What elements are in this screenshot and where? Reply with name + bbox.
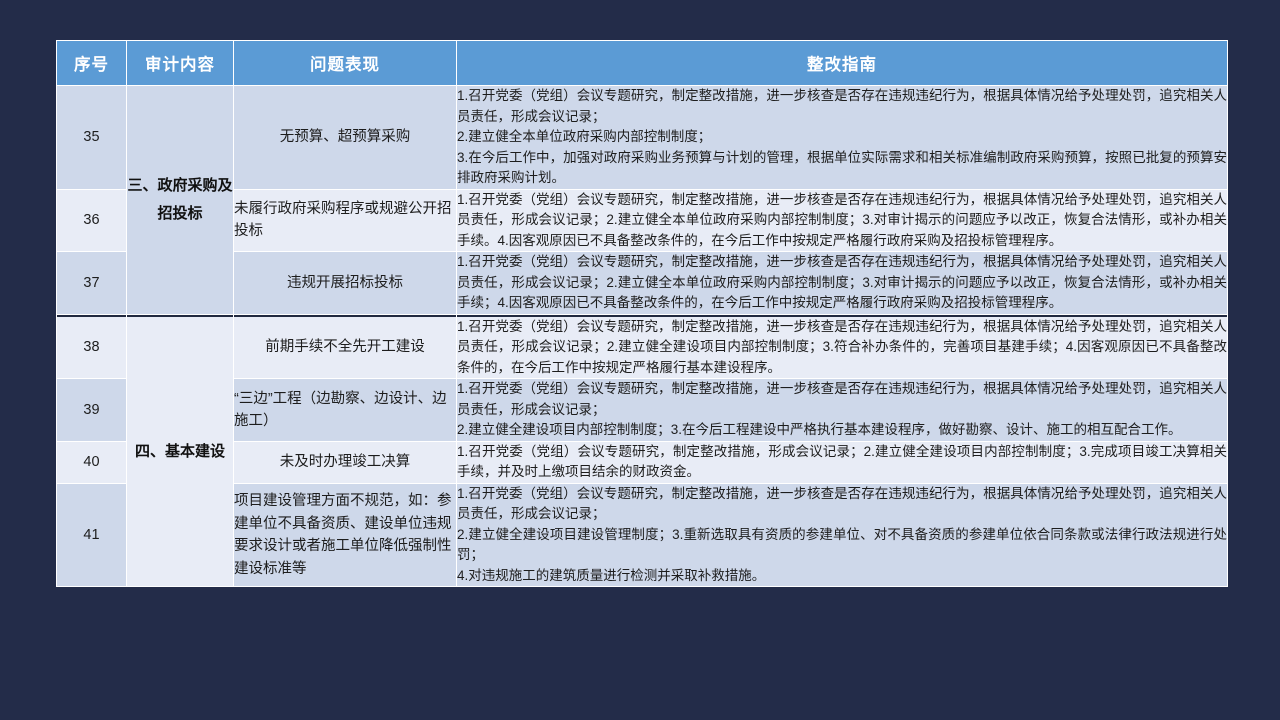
cell-guide: 1.召开党委（党组）会议专题研究，制定整改措施，进一步核查是否存在违规违纪行为，… — [457, 190, 1227, 252]
guide-line: 1.召开党委（党组）会议专题研究，制定整改措施，进一步核查是否存在违规违纪行为，… — [457, 86, 1227, 127]
cell-seq: 37 — [57, 252, 126, 314]
cell-problem: 前期手续不全先开工建设 — [234, 315, 456, 379]
cell-seq: 39 — [57, 379, 126, 441]
cell-problem: 无预算、超预算采购 — [234, 86, 456, 189]
cell-problem: 违规开展招标投标 — [234, 252, 456, 314]
cell-problem: 未履行政府采购程序或规避公开招投标 — [234, 190, 456, 252]
guide-line: 1.召开党委（党组）会议专题研究，制定整改措施，进一步核查是否存在违规违纪行为，… — [457, 190, 1227, 252]
cell-guide: 1.召开党委（党组）会议专题研究，制定整改措施，进一步核查是否存在违规违纪行为，… — [457, 315, 1227, 379]
guide-line: 1.召开党委（党组）会议专题研究，制定整改措施，进一步核查是否存在违规违纪行为，… — [457, 379, 1227, 420]
table-header: 序号 审计内容 问题表现 整改指南 — [57, 41, 1227, 85]
guide-line: 2.建立健全本单位政府采购内部控制制度； — [457, 127, 1227, 148]
cell-guide: 1.召开党委（党组）会议专题研究，制定整改措施，形成会议记录；2.建立健全建设项… — [457, 442, 1227, 483]
guide-line: 3.在今后工作中，加强对政府采购业务预算与计划的管理，根据单位实际需求和相关标准… — [457, 148, 1227, 189]
cell-seq: 36 — [57, 190, 126, 252]
cell-guide: 1.召开党委（党组）会议专题研究，制定整改措施，进一步核查是否存在违规违纪行为，… — [457, 484, 1227, 587]
guide-line: 2.建立健全建设项目建设管理制度；3.重新选取具有资质的参建单位、对不具备资质的… — [457, 525, 1227, 566]
cell-guide: 1.召开党委（党组）会议专题研究，制定整改措施，进一步核查是否存在违规违纪行为，… — [457, 379, 1227, 441]
cell-problem: 未及时办理竣工决算 — [234, 442, 456, 483]
column-header-problem: 问题表现 — [234, 41, 456, 85]
guide-line: 1.召开党委（党组）会议专题研究，制定整改措施，进一步核查是否存在违规违纪行为，… — [457, 252, 1227, 314]
cell-topic-section-3: 三、政府采购及招投标 — [127, 86, 233, 314]
cell-guide: 1.召开党委（党组）会议专题研究，制定整改措施，进一步核查是否存在违规违纪行为，… — [457, 252, 1227, 314]
guide-line: 1.召开党委（党组）会议专题研究，制定整改措施，进一步核查是否存在违规违纪行为，… — [457, 317, 1227, 379]
cell-seq: 35 — [57, 86, 126, 189]
cell-problem: “三边”工程（边勘察、边设计、边施工） — [234, 379, 456, 441]
guide-line: 1.召开党委（党组）会议专题研究，制定整改措施，形成会议记录；2.建立健全建设项… — [457, 442, 1227, 483]
guide-line: 2.建立健全建设项目内部控制制度；3.在今后工程建设中严格执行基本建设程序，做好… — [457, 420, 1227, 441]
column-header-seq: 序号 — [57, 41, 126, 85]
column-header-topic: 审计内容 — [127, 41, 233, 85]
column-header-guide: 整改指南 — [457, 41, 1227, 85]
audit-remediation-table: 序号 审计内容 问题表现 整改指南 35 三、政府采购及招投标 无预算、超预算采… — [56, 40, 1228, 587]
table-body: 35 三、政府采购及招投标 无预算、超预算采购 1.召开党委（党组）会议专题研究… — [57, 86, 1227, 586]
cell-topic-section-4: 四、基本建设 — [127, 315, 233, 587]
cell-seq: 40 — [57, 442, 126, 483]
cell-problem: 项目建设管理方面不规范，如：参建单位不具备资质、建设单位违规要求设计或者施工单位… — [234, 484, 456, 587]
cell-seq: 41 — [57, 484, 126, 587]
table-header-row: 序号 审计内容 问题表现 整改指南 — [57, 41, 1227, 85]
guide-line: 4.对违规施工的建筑质量进行检测并采取补救措施。 — [457, 566, 1227, 587]
slide-canvas: 序号 审计内容 问题表现 整改指南 35 三、政府采购及招投标 无预算、超预算采… — [0, 0, 1280, 720]
table-row: 38 四、基本建设 前期手续不全先开工建设 1.召开党委（党组）会议专题研究，制… — [57, 315, 1227, 379]
guide-line: 1.召开党委（党组）会议专题研究，制定整改措施，进一步核查是否存在违规违纪行为，… — [457, 484, 1227, 525]
table-row: 35 三、政府采购及招投标 无预算、超预算采购 1.召开党委（党组）会议专题研究… — [57, 86, 1227, 189]
cell-guide: 1.召开党委（党组）会议专题研究，制定整改措施，进一步核查是否存在违规违纪行为，… — [457, 86, 1227, 189]
audit-table-container: 序号 审计内容 问题表现 整改指南 35 三、政府采购及招投标 无预算、超预算采… — [56, 40, 1225, 587]
cell-seq: 38 — [57, 315, 126, 379]
